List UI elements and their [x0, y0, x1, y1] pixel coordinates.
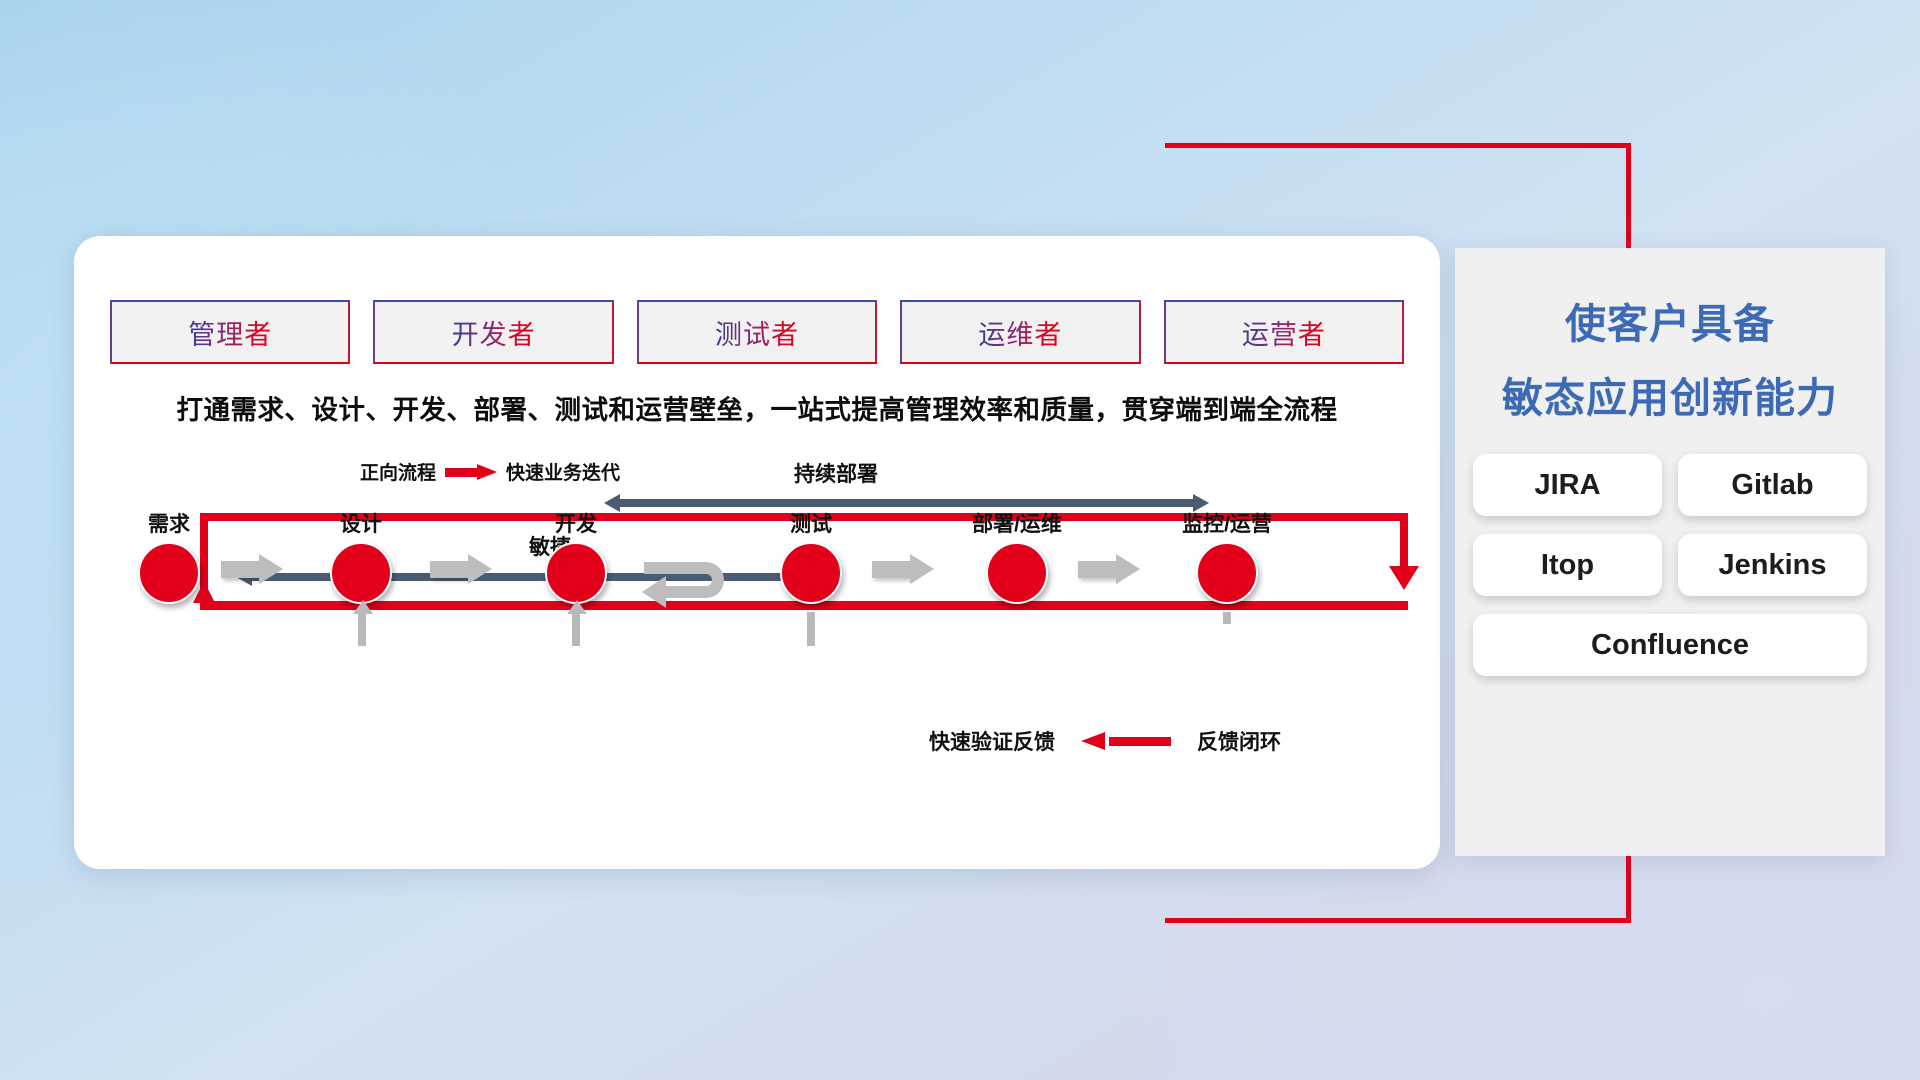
role-label: 测试者 — [715, 313, 799, 352]
description-text: 打通需求、设计、开发、部署、测试和运营壁垒，一站式提高管理效率和质量，贯穿端到端… — [74, 388, 1440, 427]
stage-stem — [807, 612, 815, 646]
forward-flow-source-label: 正向流程 — [360, 458, 436, 485]
tools-panel: 使客户具备 敏态应用创新能力 JIRA Gitlab Itop Jenkins … — [1455, 248, 1885, 856]
loop-back-arrow-icon — [638, 546, 750, 626]
forward-flow-legend: 正向流程 快速业务迭代 — [360, 458, 620, 485]
continuous-deploy-label: 持续部署 — [794, 458, 878, 488]
role-label: 运营者 — [1242, 313, 1326, 352]
role-label: 开发者 — [452, 313, 536, 352]
stage-dot — [138, 542, 200, 604]
stage-label: 开发 — [521, 508, 631, 538]
forward-flow-target-label: 快速业务迭代 — [506, 458, 620, 485]
arrow-right-gray-icon — [1078, 554, 1140, 584]
pipeline-stage-requirement[interactable]: 需求 — [114, 508, 224, 604]
stage-label: 监控/运营 — [1172, 508, 1282, 538]
tool-pill-jira[interactable]: JIRA — [1473, 454, 1662, 516]
stage-stem-arrow-icon — [567, 600, 587, 614]
panel-title-line1: 使客户具备 — [1455, 290, 1885, 350]
role-box-manager[interactable]: 管理者 — [110, 300, 350, 364]
panel-title-line2: 敏态应用创新能力 — [1455, 364, 1885, 424]
pipeline-stage-design[interactable]: 设计 — [306, 508, 416, 604]
tools-grid: JIRA Gitlab Itop Jenkins Confluence — [1473, 454, 1867, 676]
stage-stem — [358, 612, 366, 646]
tool-pill-itop[interactable]: Itop — [1473, 534, 1662, 596]
stage-stem — [1223, 612, 1231, 624]
role-boxes-row: 管理者 开发者 测试者 运维者 运营者 — [110, 300, 1404, 364]
stage-label: 设计 — [306, 508, 416, 538]
role-label: 运维者 — [978, 313, 1062, 352]
arrow-right-gray-icon — [872, 554, 934, 584]
pipeline-stage-test[interactable]: 测试 — [756, 508, 866, 604]
role-box-developer[interactable]: 开发者 — [373, 300, 613, 364]
arrow-left-red-icon — [1081, 732, 1171, 750]
stage-stem — [572, 612, 580, 646]
pipeline: 需求 设计 开发 测试 部署/运维 监控/运营 — [110, 508, 1404, 638]
stage-stem-arrow-icon — [353, 600, 373, 614]
stage-dot — [330, 542, 392, 604]
role-box-ops[interactable]: 运维者 — [900, 300, 1140, 364]
stage-label: 需求 — [114, 508, 224, 538]
tool-pill-confluence[interactable]: Confluence — [1473, 614, 1867, 676]
feedback-source-label: 反馈闭环 — [1197, 726, 1281, 756]
role-box-tester[interactable]: 测试者 — [637, 300, 877, 364]
pipeline-stage-develop[interactable]: 开发 — [521, 508, 631, 604]
pipeline-stage-deploy-ops[interactable]: 部署/运维 — [962, 508, 1072, 604]
arrow-right-gray-icon — [430, 554, 492, 584]
tool-pill-jenkins[interactable]: Jenkins — [1678, 534, 1867, 596]
tool-pill-gitlab[interactable]: Gitlab — [1678, 454, 1867, 516]
arrow-right-red-icon — [445, 464, 497, 480]
stage-label: 部署/运维 — [962, 508, 1072, 538]
pipeline-stage-monitor-operate[interactable]: 监控/运营 — [1172, 508, 1282, 604]
role-box-operations[interactable]: 运营者 — [1164, 300, 1404, 364]
role-label: 管理者 — [188, 313, 272, 352]
stage-dot — [545, 542, 607, 604]
feedback-legend: 快速验证反馈 反馈闭环 — [929, 726, 1281, 756]
arrow-right-gray-icon — [221, 554, 283, 584]
stage-dot — [780, 542, 842, 604]
stage-label: 测试 — [756, 508, 866, 538]
stage-dot — [1196, 542, 1258, 604]
main-card: 管理者 开发者 测试者 运维者 运营者 打通需求、设计、开发、部署、测试和运营壁… — [74, 236, 1440, 869]
feedback-target-label: 快速验证反馈 — [929, 726, 1055, 756]
stage-dot — [986, 542, 1048, 604]
